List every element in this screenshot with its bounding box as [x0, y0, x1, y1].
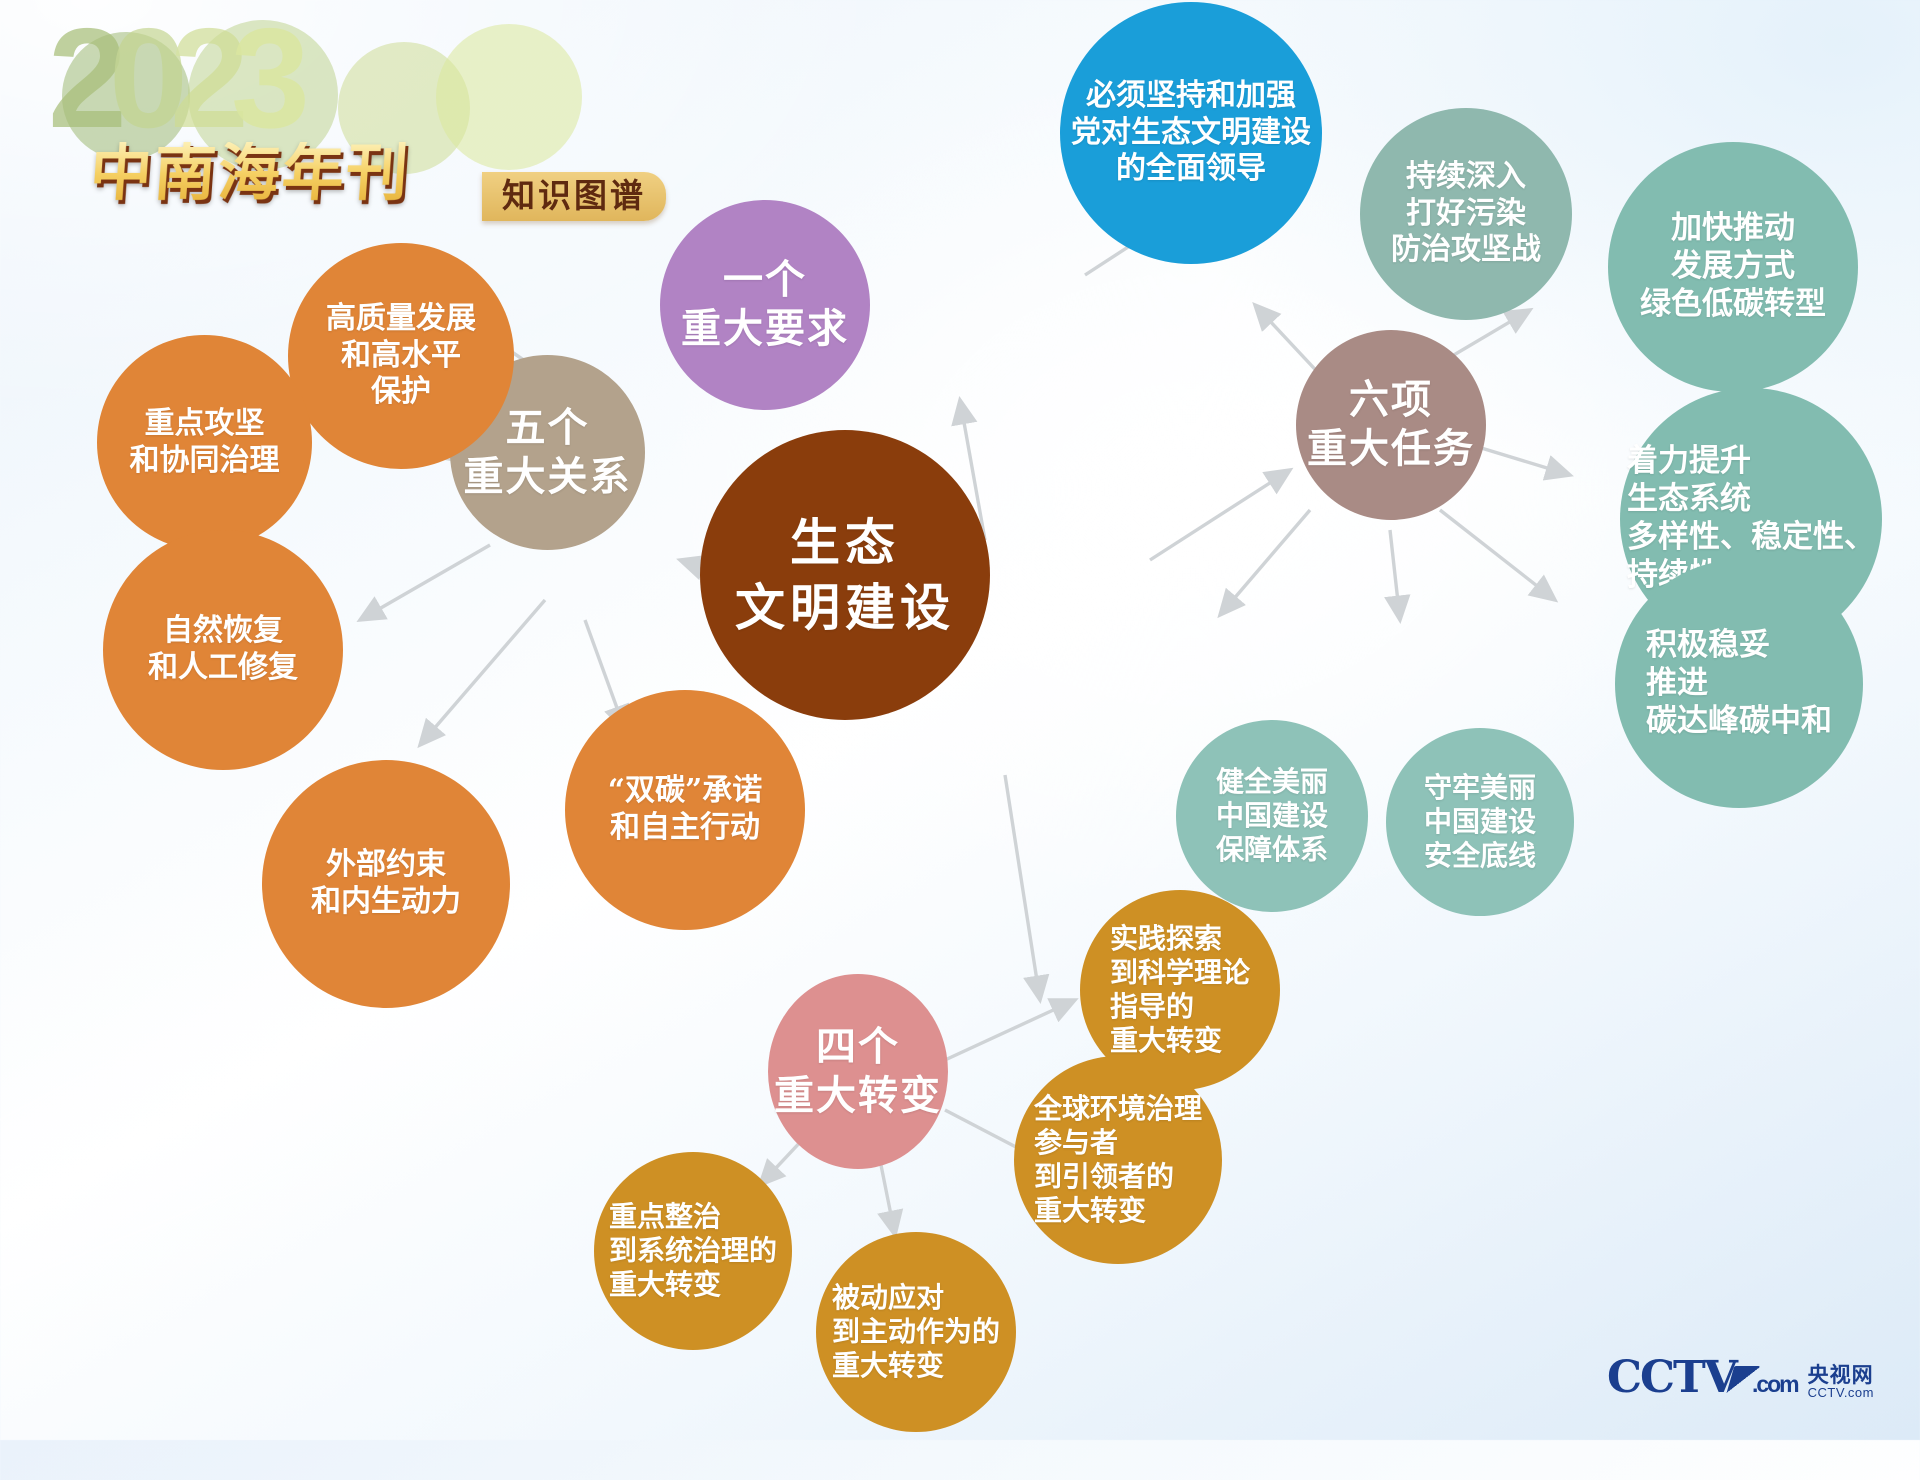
- node-pollution-battle[interactable]: 持续深入 打好污染 防治攻坚战: [1360, 108, 1572, 320]
- node-natural-and-artificial[interactable]: 自然恢复 和人工修复: [103, 530, 343, 770]
- node-carbon-peak-neutrality[interactable]: 积极稳妥 推进 碳达峰碳中和: [1615, 560, 1863, 808]
- node-key-and-coordinated[interactable]: 重点攻坚 和协同治理: [97, 335, 312, 550]
- knowledge-graph: 生态 文明建设 一个 重大要求 五个 重大关系 六项 重大任务 四个 重大转变 …: [0, 0, 1920, 1440]
- node-center[interactable]: 生态 文明建设: [700, 430, 990, 720]
- node-practice-to-theory-label: 实践探索 到科学理论 指导的 重大转变: [1104, 922, 1256, 1059]
- node-beautiful-china-system-label: 健全美丽 中国建设 保障体系: [1210, 765, 1334, 867]
- cctv-logo: CCTV.com 央视网 CCTV.com: [1607, 1356, 1874, 1400]
- cctv-wordmark-text: CCTV: [1607, 1352, 1736, 1403]
- node-passive-to-active[interactable]: 被动应对 到主动作为的 重大转变: [816, 1232, 1016, 1432]
- node-beautiful-china-system[interactable]: 健全美丽 中国建设 保障体系: [1176, 720, 1368, 912]
- node-dual-carbon-label: “双碳”承诺 和自主行动: [602, 773, 769, 846]
- node-high-quality-protection[interactable]: 高质量发展 和高水平 保护: [288, 243, 514, 469]
- node-party-leadership[interactable]: 必须坚持和加强 党对生态文明建设 的全面领导: [1060, 2, 1322, 264]
- cctv-dotcom: .com: [1752, 1371, 1798, 1397]
- node-participant-to-leader-label: 全球环境治理 参与者 到引领者的 重大转变: [1028, 1092, 1208, 1229]
- node-green-transition[interactable]: 加快推动 发展方式 绿色低碳转型: [1608, 142, 1858, 392]
- node-key-and-coordinated-label: 重点攻坚 和协同治理: [124, 406, 286, 479]
- node-beautiful-china-safety[interactable]: 守牢美丽 中国建设 安全底线: [1386, 728, 1574, 916]
- node-six-tasks[interactable]: 六项 重大任务: [1296, 330, 1486, 520]
- cctv-wordmark: CCTV.com: [1607, 1356, 1798, 1400]
- node-dual-carbon[interactable]: “双碳”承诺 和自主行动: [565, 690, 805, 930]
- node-external-and-internal[interactable]: 外部约束 和内生动力: [262, 760, 510, 1008]
- cctv-chinese-name-sub: CCTV.com: [1808, 1386, 1874, 1400]
- node-natural-and-artificial-label: 自然恢复 和人工修复: [142, 613, 304, 686]
- node-four-changes-label: 四个 重大转变: [768, 1023, 948, 1121]
- node-high-quality-protection-label: 高质量发展 和高水平 保护: [320, 301, 482, 411]
- node-key-to-systemic-label: 重点整治 到系统治理的 重大转变: [603, 1200, 783, 1302]
- node-four-changes[interactable]: 四个 重大转变: [768, 974, 948, 1169]
- node-six-tasks-label: 六项 重大任务: [1301, 376, 1481, 474]
- node-party-leadership-label: 必须坚持和加强 党对生态文明建设 的全面领导: [1065, 78, 1317, 188]
- node-one-requirement[interactable]: 一个 重大要求: [660, 200, 870, 410]
- node-passive-to-active-label: 被动应对 到主动作为的 重大转变: [826, 1281, 1006, 1383]
- cctv-chinese-name: 央视网 CCTV.com: [1808, 1364, 1874, 1400]
- node-beautiful-china-safety-label: 守牢美丽 中国建设 安全底线: [1418, 771, 1542, 873]
- node-carbon-peak-neutrality-label: 积极稳妥 推进 碳达峰碳中和: [1640, 627, 1838, 740]
- node-center-label: 生态 文明建设: [729, 510, 961, 640]
- node-one-requirement-label: 一个 重大要求: [675, 256, 855, 354]
- node-pollution-battle-label: 持续深入 打好污染 防治攻坚战: [1385, 159, 1547, 269]
- cctv-chinese-name-text: 央视网: [1808, 1364, 1874, 1386]
- node-key-to-systemic[interactable]: 重点整治 到系统治理的 重大转变: [594, 1152, 792, 1350]
- node-green-transition-label: 加快推动 发展方式 绿色低碳转型: [1634, 210, 1832, 323]
- node-participant-to-leader[interactable]: 全球环境治理 参与者 到引领者的 重大转变: [1014, 1056, 1222, 1264]
- node-external-and-internal-label: 外部约束 和内生动力: [305, 847, 467, 920]
